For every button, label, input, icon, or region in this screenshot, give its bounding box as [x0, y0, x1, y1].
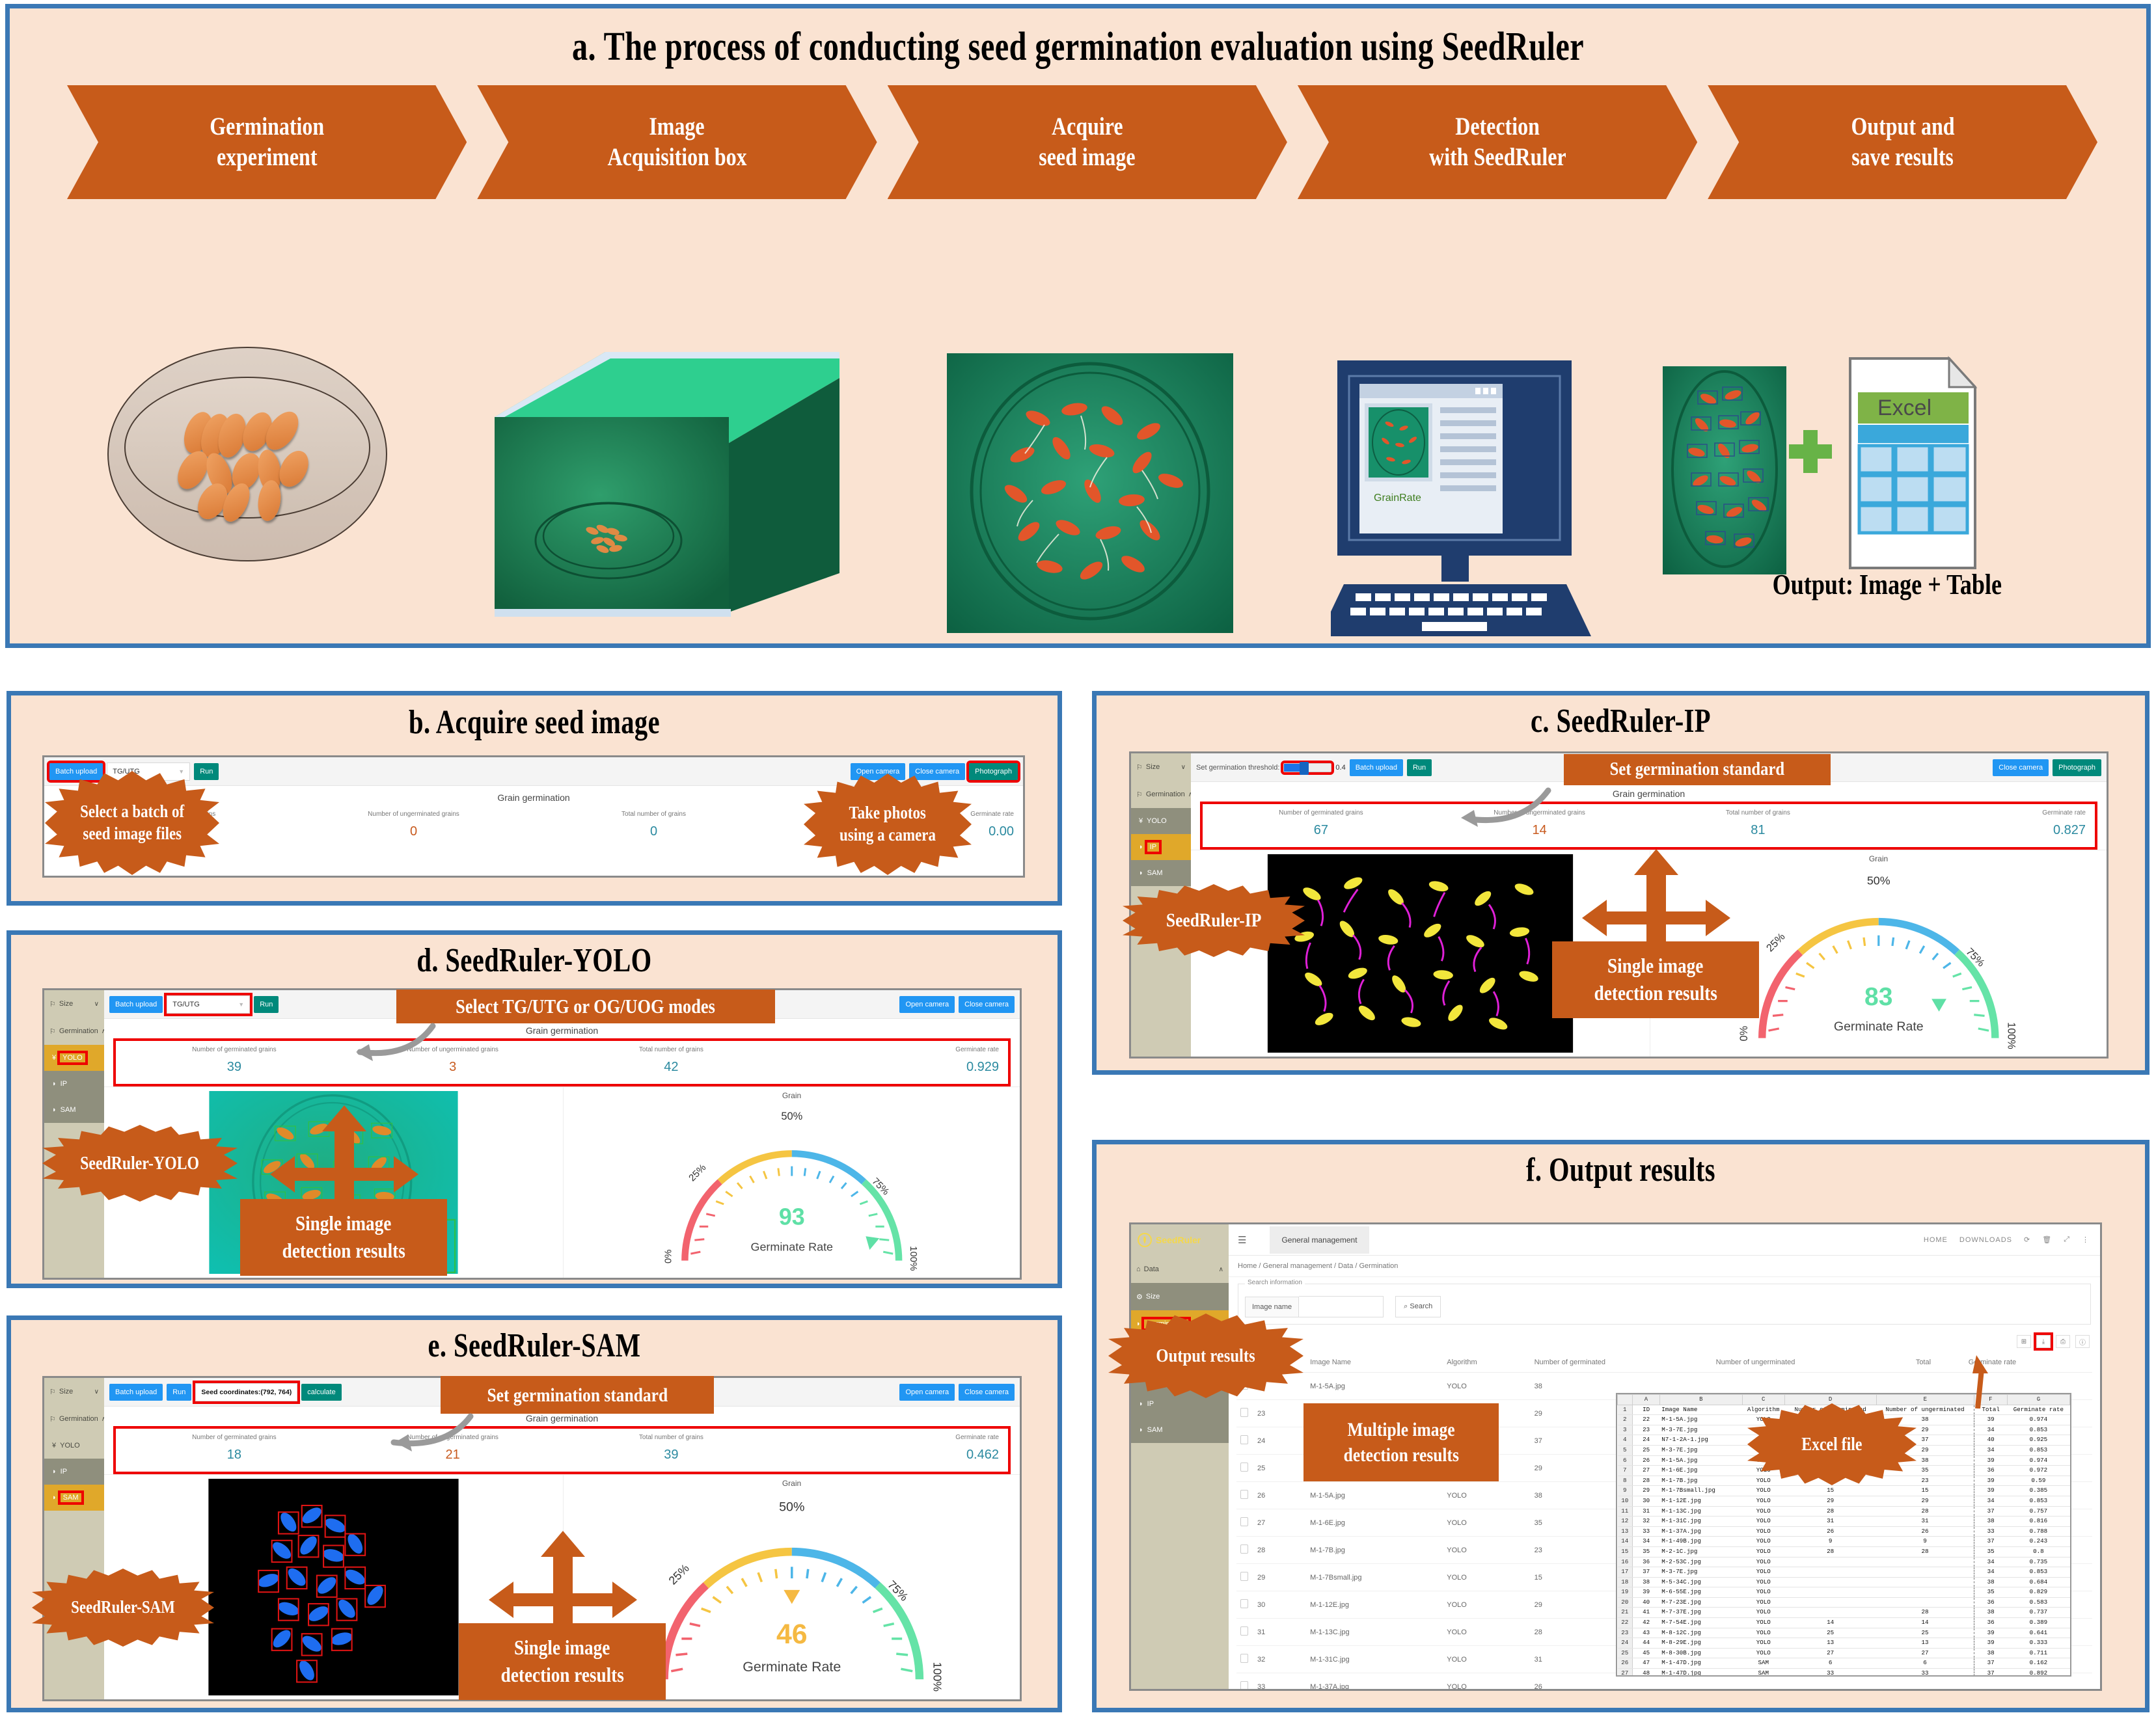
tab-general-management[interactable]: General management — [1270, 1226, 1369, 1254]
excel-cell: 15 — [1784, 1486, 1876, 1496]
excel-cell: 30 — [1633, 1496, 1660, 1506]
callout-multiple-image-results: Multiple image detection results — [1303, 1403, 1499, 1481]
stat-rate: Germinate rate 0.462 — [780, 1434, 999, 1463]
excel-cell: 33 — [1633, 1526, 1660, 1537]
nav-home[interactable]: HOME — [1924, 1236, 1948, 1244]
excel-cell: 34 — [1974, 1557, 2007, 1567]
excel-cell: YOLO — [1742, 1567, 1784, 1578]
run-button[interactable]: Run — [1407, 759, 1432, 776]
seed-icon: ◗ — [1139, 869, 1143, 877]
excel-cell: YOLO — [1742, 1526, 1784, 1537]
sidebar-item-sam[interactable]: ◗ SAM — [1131, 1417, 1229, 1443]
excel-cell: M-1-5A.jpg — [1659, 1455, 1742, 1466]
batch-upload-button[interactable]: Batch upload — [109, 1384, 163, 1401]
excel-row[interactable]: 1131M-1-13C.jpgYOLO2828370.757 — [1618, 1506, 2070, 1517]
table-cell: YOLO — [1443, 1373, 1530, 1400]
panel-d-gauge: Grain 50% 93 — [563, 1087, 1020, 1278]
open-camera-button[interactable]: Open camera — [899, 996, 955, 1013]
excel-cell: 31 — [1876, 1517, 1974, 1527]
chevron-down-icon: ∨ — [1181, 764, 1186, 771]
excel-cell: 32 — [1633, 1517, 1660, 1527]
close-camera-button[interactable]: Close camera — [1993, 759, 2049, 776]
photograph-button[interactable]: Photograph — [2053, 759, 2101, 776]
close-camera-button[interactable]: Close camera — [959, 1384, 1015, 1401]
print-icon[interactable]: ⎙ — [2056, 1335, 2070, 1348]
excel-cell: 39 — [1974, 1628, 2007, 1638]
excel-cell: 6 — [1784, 1658, 1876, 1669]
excel-cell: 39 — [1974, 1455, 2007, 1466]
excel-row[interactable]: 1838M-5-34C.jpgYOLO380.684 — [1618, 1577, 2070, 1587]
table-toolbar: ⊞ ⤓ ⎙ ⓘ — [1229, 1331, 2100, 1352]
table-cell: 32 — [1253, 1646, 1306, 1673]
row-checkbox[interactable] — [1240, 1463, 1248, 1472]
excel-cell: M-3-7E.jpg — [1659, 1567, 1742, 1578]
sidebar-item-yolo[interactable]: ¥ YOLO — [44, 1433, 104, 1459]
excel-cell: 38 — [1974, 1577, 2007, 1587]
excel-cell: 26 — [1633, 1455, 1660, 1466]
process-step-3-line1: Acquire — [1052, 112, 1123, 142]
column-header[interactable]: Image Name — [1306, 1352, 1443, 1373]
excel-cell: M-1-5A.jpg — [1659, 1415, 1742, 1425]
flag-icon: ⚐ — [49, 1388, 56, 1396]
excel-cell: 33 — [1974, 1526, 2007, 1537]
excel-header-cell: Image Name — [1659, 1405, 1742, 1415]
batch-upload-button[interactable]: Batch upload — [49, 763, 103, 780]
excel-cell: M-1-13C.jpg — [1659, 1506, 1742, 1517]
refresh-icon[interactable]: ⟳ — [2024, 1235, 2030, 1244]
sidebar-item-ip[interactable]: ◗ IP — [44, 1071, 104, 1097]
three-way-arrow-icon — [459, 1531, 667, 1628]
row-checkbox[interactable] — [1240, 1544, 1248, 1554]
stat-total: Total number of grains 81 — [1649, 809, 1868, 838]
run-button[interactable]: Run — [167, 1384, 191, 1401]
output-image-table-label: Output: Image + Table — [1666, 568, 2108, 601]
excel-cell: 37 — [1633, 1567, 1660, 1578]
excel-cell: 0.162 — [2007, 1658, 2069, 1669]
gauge-tick-25: 25% — [687, 1162, 708, 1183]
process-step-4-line2: with SeedRuler — [1429, 142, 1566, 172]
sidebar-item-ip[interactable]: ◗ IP — [1131, 1391, 1229, 1417]
callout-single-image-results: Single image detection results — [240, 1199, 447, 1276]
excel-row[interactable]: 1939M-6-55E.jpgYOLO350.829 — [1618, 1587, 2070, 1598]
row-checkbox[interactable] — [1240, 1572, 1248, 1581]
excel-cell: 0.974 — [2007, 1455, 2069, 1466]
process-step-5-line1: Output and — [1851, 112, 1954, 142]
excel-cell: 25 — [1876, 1628, 1974, 1638]
excel-cell — [1876, 1567, 1974, 1578]
excel-cell: 0.829 — [2007, 1587, 2069, 1598]
excel-row[interactable]: 2545M-8-30B.jpgYOLO2727380.711 — [1618, 1648, 2070, 1658]
excel-row[interactable]: 1737M-3-7E.jpgYOLO340.853 — [1618, 1567, 2070, 1578]
excel-cell: 0.757 — [2007, 1506, 2069, 1517]
gauge-tick-25: 25% — [1764, 931, 1788, 954]
excel-cell: 39 — [1974, 1415, 2007, 1425]
chevron-up-icon: ∧ — [1219, 1266, 1223, 1273]
column-header[interactable]: Number of ungerminated — [1712, 1352, 1912, 1373]
close-camera-button[interactable]: Close camera — [909, 763, 965, 780]
excel-cell: 45 — [1633, 1648, 1660, 1658]
excel-cell — [1876, 1557, 1974, 1567]
excel-cell: 0.892 — [2007, 1669, 2069, 1677]
panel-e-title: e. SeedRuler-SAM — [126, 1327, 942, 1365]
trash-icon[interactable]: 🗑 — [2042, 1235, 2052, 1244]
excel-cell: 0.711 — [2007, 1648, 2069, 1658]
flag-icon: ⚐ — [49, 1000, 56, 1008]
excel-cell: M-1-49B.jpg — [1659, 1537, 1742, 1547]
table-cell: YOLO — [1443, 1646, 1530, 1673]
table-cell: 25 — [1253, 1455, 1306, 1482]
banner-select-modes: Select TG/UTG or OG/UOG modes — [396, 990, 775, 1023]
row-checkbox[interactable] — [1240, 1599, 1248, 1608]
excel-row[interactable]: 2343M-8-12C.jpgYOLO2525390.641 — [1618, 1628, 2070, 1638]
excel-cell: 15 — [1876, 1486, 1974, 1496]
gauge-tick-25: 25% — [666, 1561, 691, 1587]
column-header[interactable]: Total — [1912, 1352, 1965, 1373]
panel-c-title: c. SeedRuler-IP — [1212, 702, 2030, 740]
search-button[interactable]: ⌕ Search — [1395, 1296, 1441, 1317]
gauge-title: Grain — [1869, 854, 1888, 863]
export-icon[interactable]: ⤓ — [2036, 1335, 2051, 1348]
excel-cell: M-1-12E.jpg — [1659, 1496, 1742, 1506]
photograph-button[interactable]: Photograph — [969, 763, 1018, 780]
sidebar-item-data[interactable]: ⌂ Data ∧ — [1131, 1256, 1229, 1283]
brand-name: SeedRuler — [1156, 1235, 1201, 1245]
excel-cell: 38 — [1633, 1577, 1660, 1587]
excel-cell: 0.684 — [2007, 1577, 2069, 1587]
excel-cell: 37 — [1974, 1506, 2007, 1517]
sidebar-item-size[interactable]: ⚐ Size ∨ — [1131, 753, 1191, 781]
excel-row[interactable]: 2647M-1-47D.jpgSAM66370.162 — [1618, 1658, 2070, 1669]
panel-e-seedruler-sam: e. SeedRuler-SAM ⚐ Size ∨ ⚐ Germination … — [7, 1315, 1062, 1712]
seed-icon: ◗ — [1139, 1426, 1143, 1434]
process-step-2: Image Acquisition box — [477, 85, 877, 199]
table-cell: M-1-7Bsmall.jpg — [1306, 1564, 1443, 1591]
excel-cell: 31 — [1633, 1506, 1660, 1517]
excel-cell: 33 — [1784, 1669, 1876, 1677]
seed-icon: ◗ — [52, 1494, 57, 1502]
excel-cell: 0.333 — [2007, 1638, 2069, 1649]
excel-cell: 29 — [1784, 1496, 1876, 1506]
sidebar-item-ip[interactable]: ◗ IP — [1131, 834, 1191, 860]
table-cell: YOLO — [1443, 1619, 1530, 1646]
panel-d-seedruler-yolo: d. SeedRuler-YOLO ⚐ Size ∨ ⚐ Germination… — [7, 930, 1062, 1288]
batch-upload-button[interactable]: Batch upload — [1350, 759, 1403, 776]
excel-cell: M-1-7B.jpg — [1659, 1476, 1742, 1486]
excel-cell: YOLO — [1742, 1628, 1784, 1638]
excel-cell: YOLO — [1742, 1597, 1784, 1608]
excel-row[interactable]: 1636M-2-53C.jpgYOLO340.735 — [1618, 1557, 2070, 1567]
excel-cell: 9 — [1876, 1537, 1974, 1547]
close-camera-button[interactable]: Close camera — [959, 996, 1015, 1013]
table-cell: M-1-37A.jpg — [1306, 1673, 1443, 1690]
calculate-button[interactable]: calculate — [301, 1384, 341, 1401]
excel-header-cell: Germinate rate — [2007, 1405, 2069, 1415]
seed-coordinates-field[interactable]: Seed coordinates:(792, 764) — [195, 1383, 297, 1401]
gauge-tick-0: 0% — [662, 1249, 674, 1263]
sidebar-item-size[interactable]: ⚐ Size ∨ — [44, 1378, 104, 1405]
gauge-needle — [1931, 999, 1946, 1012]
search-legend: Search information — [1245, 1279, 1305, 1286]
excel-cell: M-3-7E.jpg — [1659, 1445, 1742, 1455]
excel-cell: YOLO — [1742, 1486, 1784, 1496]
table-cell: 28 — [1253, 1537, 1306, 1564]
excel-cell: 14 — [1784, 1618, 1876, 1628]
excel-row[interactable]: 1333M-1-37A.jpgYOLO2626330.788 — [1618, 1526, 2070, 1537]
gauge-caption: Germinate Rate — [743, 1659, 841, 1675]
excel-cell: 0.925 — [2007, 1435, 2069, 1446]
seed-icon: ◗ — [52, 1468, 57, 1476]
batch-upload-button[interactable]: Batch upload — [109, 996, 163, 1013]
table-cell: YOLO — [1443, 1537, 1530, 1564]
run-button[interactable]: Run — [254, 996, 279, 1013]
excel-cell: 41 — [1633, 1608, 1660, 1618]
excel-cell: 0.853 — [2007, 1445, 2069, 1455]
excel-cell: 35 — [1633, 1546, 1660, 1557]
excel-row[interactable]: 1232M-1-31C.jpgYOLO3131380.816 — [1618, 1517, 2070, 1527]
excel-cell: YOLO — [1742, 1618, 1784, 1628]
excel-row[interactable]: 929M-1-7Bsmall.jpgYOLO1515390.385 — [1618, 1486, 2070, 1496]
sidebar-item-germination[interactable]: ⚐ Germination ∧ — [44, 1018, 104, 1045]
more-icon[interactable]: ⋮ — [2082, 1235, 2090, 1244]
excel-cell: YOLO — [1742, 1557, 1784, 1567]
sidebar-item-germination[interactable]: ⚐ Germination ∧ — [44, 1405, 104, 1433]
curved-arrow-icon — [336, 1411, 480, 1454]
sidebar-item-sam[interactable]: ◗ SAM — [44, 1485, 104, 1511]
breadcrumb: Home / General management / Data / Germi… — [1229, 1256, 2100, 1277]
table-cell: M-1-5A.jpg — [1306, 1482, 1443, 1509]
excel-row[interactable]: 1434M-1-49B.jpgYOLO99370.243 — [1618, 1537, 2070, 1547]
table-cell: 27 — [1253, 1509, 1306, 1537]
excel-cell: M-7-23E.jpg — [1659, 1597, 1742, 1608]
open-camera-button[interactable]: Open camera — [851, 763, 906, 780]
image-name-input[interactable] — [1299, 1296, 1384, 1317]
table-cell: 23 — [1253, 1400, 1306, 1427]
mode-select-value: TG/UTG — [172, 1001, 200, 1008]
column-header[interactable]: Algorithm — [1443, 1352, 1530, 1373]
excel-cell — [1876, 1577, 1974, 1587]
excel-cell: 47 — [1633, 1658, 1660, 1669]
excel-row[interactable]: 1535M-2-1C.jpgYOLO2828350.8 — [1618, 1546, 2070, 1557]
excel-cell: YOLO — [1742, 1648, 1784, 1658]
chevron-down-icon: ▼ — [178, 768, 184, 775]
excel-cell: M-2-53C.jpg — [1659, 1557, 1742, 1567]
excel-cell: 31 — [1784, 1517, 1876, 1527]
gauge-value: 83 — [1864, 983, 1892, 1011]
excel-cell: 29 — [1633, 1486, 1660, 1496]
excel-cell: 40 — [1633, 1597, 1660, 1608]
excel-label: Excel — [1877, 396, 1931, 420]
excel-cell: 34 — [1974, 1567, 2007, 1578]
image-acquisition-box-illustration — [495, 352, 839, 625]
run-button[interactable]: Run — [194, 763, 219, 780]
nav-downloads[interactable]: DOWNLOADS — [1959, 1236, 2012, 1244]
fullscreen-icon[interactable]: ⤢ — [2064, 1235, 2070, 1244]
mode-select[interactable]: TG/UTG ▼ — [167, 995, 250, 1014]
banner-set-germination-standard: Set germination standard — [1564, 754, 1831, 785]
excel-cell: 0.389 — [2007, 1618, 2069, 1628]
excel-cell: 48 — [1633, 1669, 1660, 1677]
image-name-label: Image name — [1245, 1297, 1299, 1317]
flag-icon: ⚐ — [1136, 763, 1143, 772]
excel-cell: M-3-7E.jpg — [1659, 1425, 1742, 1435]
excel-cell: 28 — [1784, 1506, 1876, 1517]
table-cell: YOLO — [1443, 1482, 1530, 1509]
excel-cell: YOLO — [1742, 1638, 1784, 1649]
excel-cell: 36 — [1633, 1557, 1660, 1567]
mode-select[interactable]: TG/UTG ▼ — [107, 762, 190, 781]
excel-cell: M-5-34C.jpg — [1659, 1577, 1742, 1587]
stat-rate: Germinate rate 0.929 — [780, 1046, 999, 1075]
excel-cell — [1876, 1597, 1974, 1608]
excel-cell: 34 — [1974, 1425, 2007, 1435]
excel-cell: 43 — [1633, 1628, 1660, 1638]
curved-arrow-icon — [1401, 784, 1557, 829]
table-cell: 26 — [1253, 1482, 1306, 1509]
gauge-tick-0: 0% — [1738, 1026, 1750, 1042]
open-camera-button[interactable]: Open camera — [899, 1384, 955, 1401]
threshold-label: Set germination threshold: — [1196, 764, 1279, 772]
row-checkbox[interactable] — [1240, 1490, 1248, 1499]
sidebar-item-yolo[interactable]: ¥ YOLO — [44, 1045, 104, 1071]
excel-cell: YOLO — [1742, 1476, 1784, 1486]
seed-icon: ◗ — [1139, 1400, 1143, 1408]
excel-row[interactable]: 2242M-7-54E.jpgYOLO1414360.389 — [1618, 1618, 2070, 1628]
hamburger-icon[interactable]: ☰ — [1229, 1234, 1255, 1246]
excel-cell: SAM — [1742, 1658, 1784, 1669]
gauge-caption: Germinate Rate — [1834, 1019, 1924, 1034]
output-image-table-illustration: Excel — [1663, 353, 2092, 587]
table-cell: YOLO — [1443, 1591, 1530, 1619]
excel-cell: 0.853 — [2007, 1425, 2069, 1435]
sidebar-item-size[interactable]: ⚐ Size ∨ — [44, 990, 104, 1018]
process-step-4-line1: Detection — [1455, 112, 1540, 142]
excel-cell: 0.735 — [2007, 1557, 2069, 1567]
table-cell: YOLO — [1443, 1564, 1530, 1591]
row-checkbox[interactable] — [1240, 1654, 1248, 1663]
row-checkbox[interactable] — [1240, 1626, 1248, 1636]
columns-icon[interactable]: ⊞ — [2017, 1335, 2031, 1348]
acquired-seed-image-illustration — [947, 353, 1233, 633]
panel-c-stats: Number of germinated grains 67 Number of… — [1200, 802, 2097, 850]
excel-cell: 0.8 — [2007, 1546, 2069, 1557]
sidebar-item-ip[interactable]: ◗ IP — [44, 1459, 104, 1485]
table-cell: YOLO — [1443, 1509, 1530, 1537]
excel-cell: 0.974 — [2007, 1415, 2069, 1425]
gauge-value: 93 — [779, 1204, 805, 1230]
row-checkbox[interactable] — [1240, 1408, 1248, 1417]
gauge-title: Grain — [782, 1091, 801, 1100]
excel-cell: 39 — [1974, 1476, 2007, 1486]
excel-cell: 28 — [1876, 1608, 1974, 1618]
excel-header-cell: ID — [1633, 1405, 1660, 1415]
sidebar-item-sam[interactable]: ◗ SAM — [44, 1097, 104, 1123]
excel-cell: YOLO — [1742, 1496, 1784, 1506]
process-step-1-line1: Germination — [210, 112, 324, 142]
callout-single-image-results: Single image detection results — [459, 1623, 666, 1700]
excel-header-cell: Algorithm — [1742, 1405, 1784, 1415]
sidebar-item-germination[interactable]: ⚐ Germination ∧ — [1131, 781, 1191, 808]
panel-b-acquire-seed-image: b. Acquire seed image Batch upload TG/UT… — [7, 691, 1062, 906]
excel-row[interactable]: 1030M-1-12E.jpgYOLO2929340.853 — [1618, 1496, 2070, 1506]
panel-b-title: b. Acquire seed image — [126, 703, 942, 742]
panel-f-sidebar: SeedRuler ⌂ Data ∧ ⚙ Size ◗ Germination … — [1131, 1224, 1229, 1689]
sidebar-item-yolo[interactable]: ¥ YOLO — [1131, 808, 1191, 834]
row-checkbox[interactable] — [1240, 1435, 1248, 1444]
gauge-value: 46 — [776, 1619, 808, 1650]
excel-cell: 28 — [1633, 1476, 1660, 1486]
petri-dish-illustration — [107, 347, 387, 561]
gauge-tick-50: 50% — [779, 1500, 804, 1515]
row-checkbox[interactable] — [1240, 1681, 1248, 1689]
excel-cell: 34 — [1633, 1537, 1660, 1547]
gauge-needle — [784, 1590, 800, 1604]
table-cell: M-1-5A.jpg — [1306, 1373, 1443, 1400]
fork-icon: ¥ — [52, 1054, 56, 1062]
excel-cell — [1784, 1557, 1876, 1567]
search-icon: ⌕ — [1404, 1302, 1410, 1310]
excel-cell: 13 — [1876, 1638, 1974, 1649]
excel-row[interactable]: 2040M-7-23E.jpgYOLO360.583 — [1618, 1597, 2070, 1608]
panel-e-sidebar: ⚐ Size ∨ ⚐ Germination ∧ ¥ YOLO ◗ IP ◗ S… — [44, 1378, 104, 1699]
excel-row[interactable]: 2748M-1-47D.jpgSAM3333370.892 — [1618, 1669, 2070, 1677]
excel-cell: 0.972 — [2007, 1466, 2069, 1476]
panel-e-stats: Number of germinated grains 18 Number of… — [113, 1426, 1011, 1474]
search-panel: Search information Image name ⌕ Search — [1238, 1284, 2091, 1325]
excel-cell: M-6-55E.jpg — [1659, 1587, 1742, 1598]
excel-cell: 24 — [1633, 1435, 1660, 1446]
info-icon[interactable]: ⓘ — [2075, 1335, 2090, 1348]
panel-d-title: d. SeedRuler-YOLO — [126, 941, 942, 980]
sidebar-item-size[interactable]: ⚙ Size — [1131, 1283, 1229, 1310]
excel-cell: 0.583 — [2007, 1597, 2069, 1608]
seedruler-logo-icon — [1138, 1233, 1152, 1247]
chevron-down-icon: ▼ — [238, 1001, 244, 1008]
excel-cell: 0.59 — [2007, 1476, 2069, 1486]
excel-cell: 14 — [1876, 1618, 1974, 1628]
excel-cell: 0.641 — [2007, 1628, 2069, 1638]
excel-row[interactable]: 2444M-8-29E.jpgYOLO1313390.333 — [1618, 1638, 2070, 1649]
excel-cell: 35 — [1974, 1546, 2007, 1557]
excel-cell: 0.385 — [2007, 1486, 2069, 1496]
excel-cell: 13 — [1784, 1638, 1876, 1649]
excel-row[interactable]: 2141M-7-37E.jpgYOLO28380.737 — [1618, 1608, 2070, 1618]
excel-cell — [1784, 1577, 1876, 1587]
excel-cell: 0.243 — [2007, 1537, 2069, 1547]
flag-icon: ⚐ — [49, 1027, 56, 1036]
excel-cell: 25 — [1784, 1628, 1876, 1638]
excel-cell: 37 — [1974, 1537, 2007, 1547]
process-step-2-line2: Acquisition box — [607, 142, 746, 172]
column-header[interactable]: Number of germinated — [1531, 1352, 1712, 1373]
stat-total: Total number of grains 0 — [534, 811, 774, 839]
table-cell: M-1-31C.jpg — [1306, 1646, 1443, 1673]
excel-cell: 0.816 — [2007, 1517, 2069, 1527]
table-cell: M-1-12E.jpg — [1306, 1591, 1443, 1619]
flag-icon: ⚐ — [1136, 790, 1143, 799]
seed-icon: ◗ — [1139, 843, 1143, 851]
gauge-tick-100: 100% — [2005, 1022, 2017, 1049]
excel-cell: 39 — [1974, 1638, 2007, 1649]
sidebar-item-sam[interactable]: ◗ SAM — [1131, 860, 1191, 886]
excel-cell: YOLO — [1742, 1577, 1784, 1587]
table-cell: 31 — [1253, 1619, 1306, 1646]
row-checkbox[interactable] — [1240, 1517, 1248, 1526]
excel-cell: 35 — [1974, 1587, 2007, 1598]
excel-cell: 27 — [1876, 1648, 1974, 1658]
excel-cell: 23 — [1876, 1476, 1974, 1486]
process-step-3: Acquire seed image — [888, 85, 1287, 199]
germination-threshold-slider[interactable] — [1283, 763, 1331, 772]
